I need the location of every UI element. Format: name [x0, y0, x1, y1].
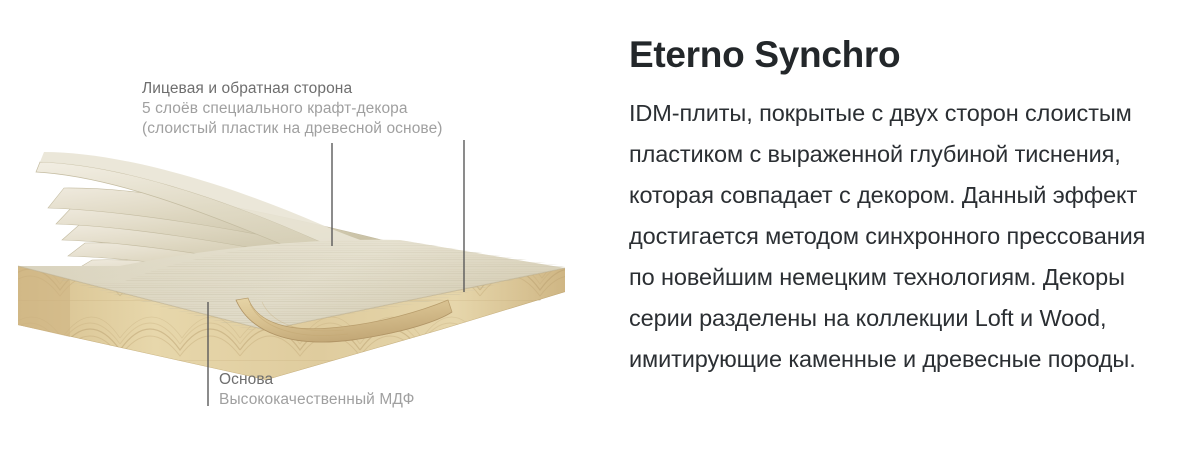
annotation-face-side: Лицевая и обратная сторона 5 слоёв специ… [142, 79, 443, 139]
product-description-column: Eterno Synchro IDM-плиты, покрытые с дву… [629, 0, 1169, 465]
annotation-core: Основа Высококачественный МДФ [219, 370, 415, 410]
annotation-face-side-line-1: 5 слоёв специального крафт-декора [142, 99, 443, 119]
product-feature-panel: Лицевая и обратная сторона 5 слоёв специ… [0, 0, 1200, 465]
annotation-core-line-1: Высококачественный МДФ [219, 390, 415, 410]
annotation-core-title: Основа [219, 370, 415, 390]
product-description: IDM-плиты, покрытые с двух сторон слоист… [629, 93, 1154, 380]
panel-illustration: Лицевая и обратная сторона 5 слоёв специ… [0, 0, 600, 465]
annotation-face-side-title: Лицевая и обратная сторона [142, 79, 443, 99]
page-title: Eterno Synchro [629, 33, 900, 77]
annotation-face-side-line-2: (слоистый пластик на древесной основе) [142, 119, 443, 139]
